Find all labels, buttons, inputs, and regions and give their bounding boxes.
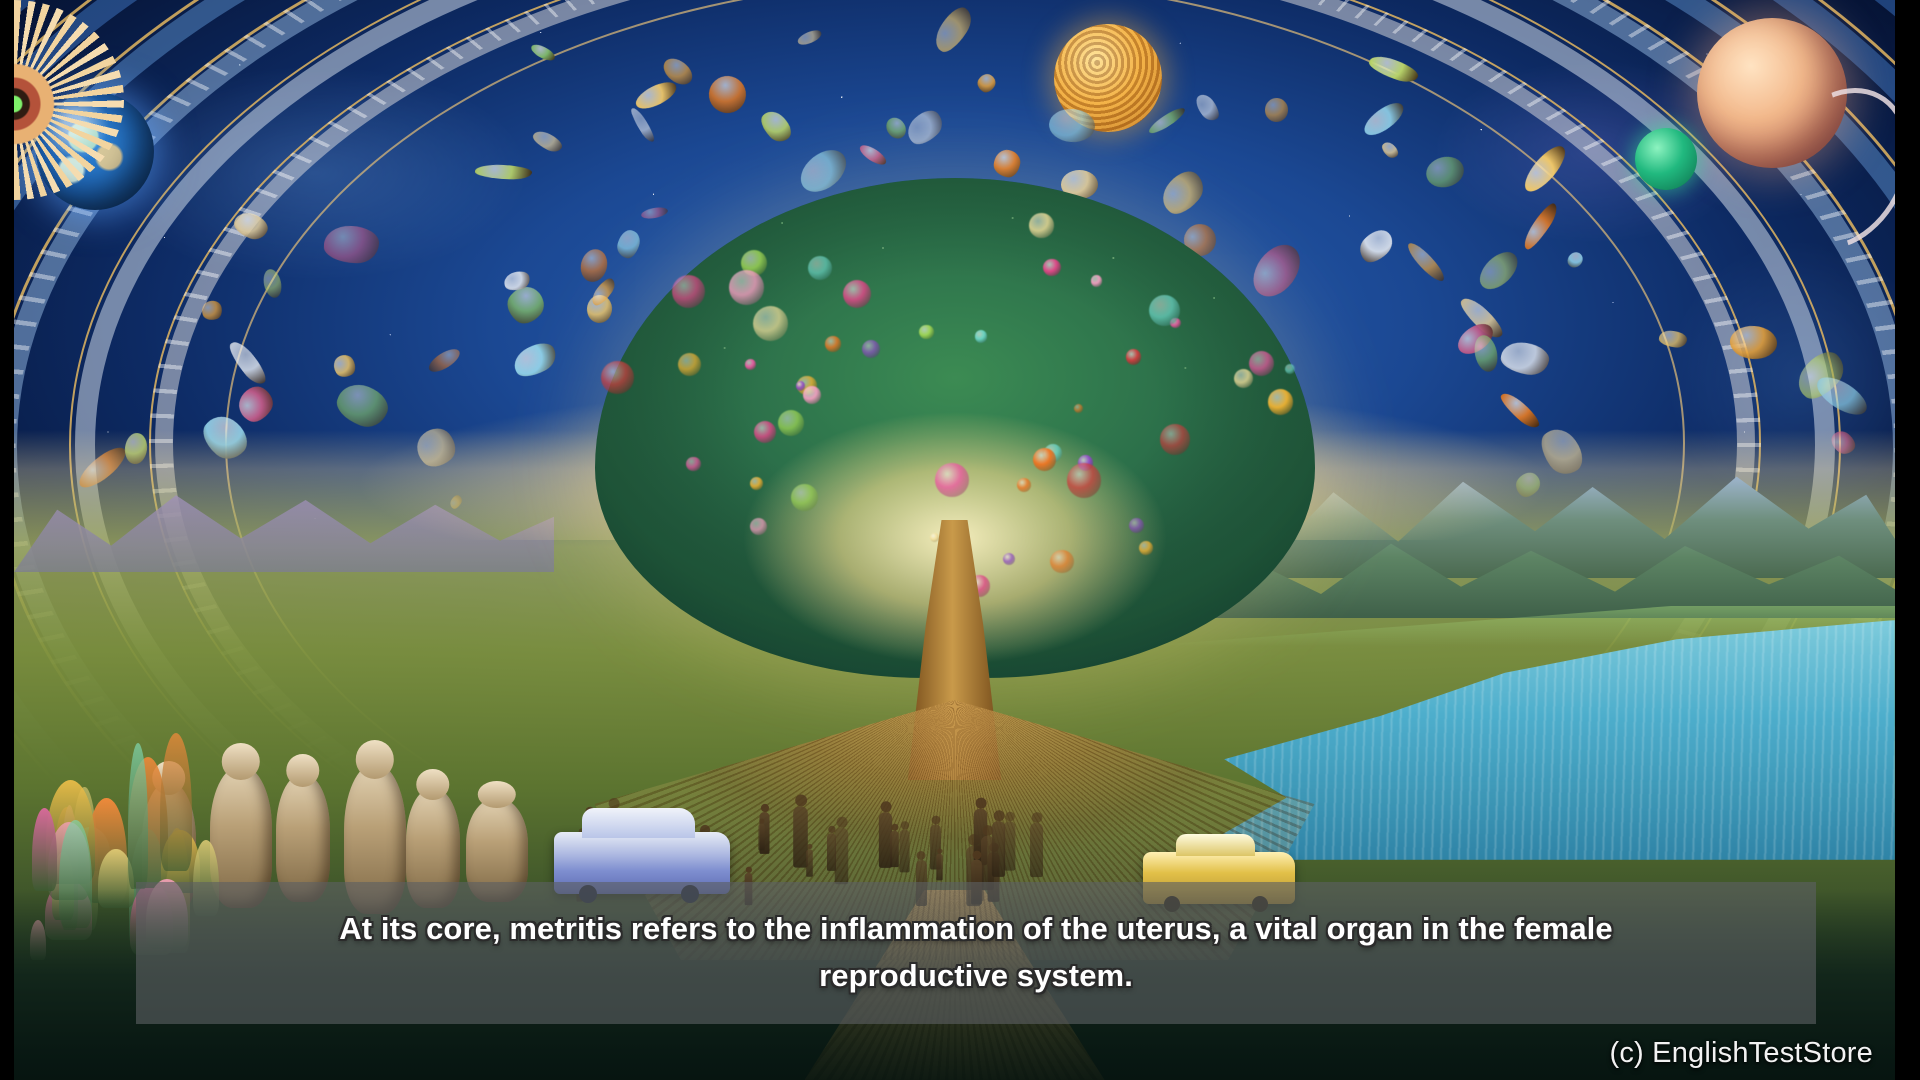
human-figure xyxy=(936,854,942,881)
blossom xyxy=(729,270,764,305)
human-figure xyxy=(758,824,764,851)
blossom xyxy=(935,463,969,497)
ovum-planet-icon xyxy=(1697,18,1847,168)
blossom xyxy=(843,280,871,308)
blossom xyxy=(1067,463,1101,497)
letterbox-right xyxy=(1895,0,1920,1080)
human-figure xyxy=(890,831,899,867)
green-orb-icon xyxy=(1635,128,1697,190)
blossom xyxy=(1033,448,1056,471)
human-figure xyxy=(900,829,910,872)
letterbox-left xyxy=(0,0,14,1080)
human-figure xyxy=(834,827,848,884)
blossom xyxy=(1149,295,1180,326)
screenshot-root: At its core, metritis refers to the infl… xyxy=(0,0,1920,1080)
blossom xyxy=(1249,351,1274,376)
blossom xyxy=(1091,275,1102,286)
human-figure xyxy=(1030,823,1043,877)
blossom xyxy=(1029,213,1053,237)
blossom xyxy=(1268,389,1294,415)
blossom xyxy=(745,359,756,370)
subtitle-caption-box: At its core, metritis refers to the infl… xyxy=(136,882,1816,1024)
blossom xyxy=(1003,553,1015,565)
blossom xyxy=(678,353,701,376)
blossom xyxy=(1126,349,1142,365)
caption-line-1: At its core, metritis refers to the infl… xyxy=(339,913,1612,946)
blossom xyxy=(975,330,987,342)
blossom xyxy=(862,340,880,358)
blossom xyxy=(1285,364,1295,374)
blossom xyxy=(1074,404,1083,413)
illustration-canvas: At its core, metritis refers to the infl… xyxy=(14,0,1895,1080)
human-figure xyxy=(806,849,813,877)
caption-line-2: reproductive system. xyxy=(819,960,1133,993)
blossom xyxy=(1160,424,1191,455)
watermark-label: (c) EnglishTestStore xyxy=(1610,1037,1874,1070)
blossom xyxy=(778,410,804,436)
blossom xyxy=(791,484,818,511)
human-figure xyxy=(1004,821,1016,870)
blossom xyxy=(825,336,841,352)
blossom xyxy=(753,306,788,341)
blossom xyxy=(601,361,634,394)
blossom xyxy=(808,256,832,280)
